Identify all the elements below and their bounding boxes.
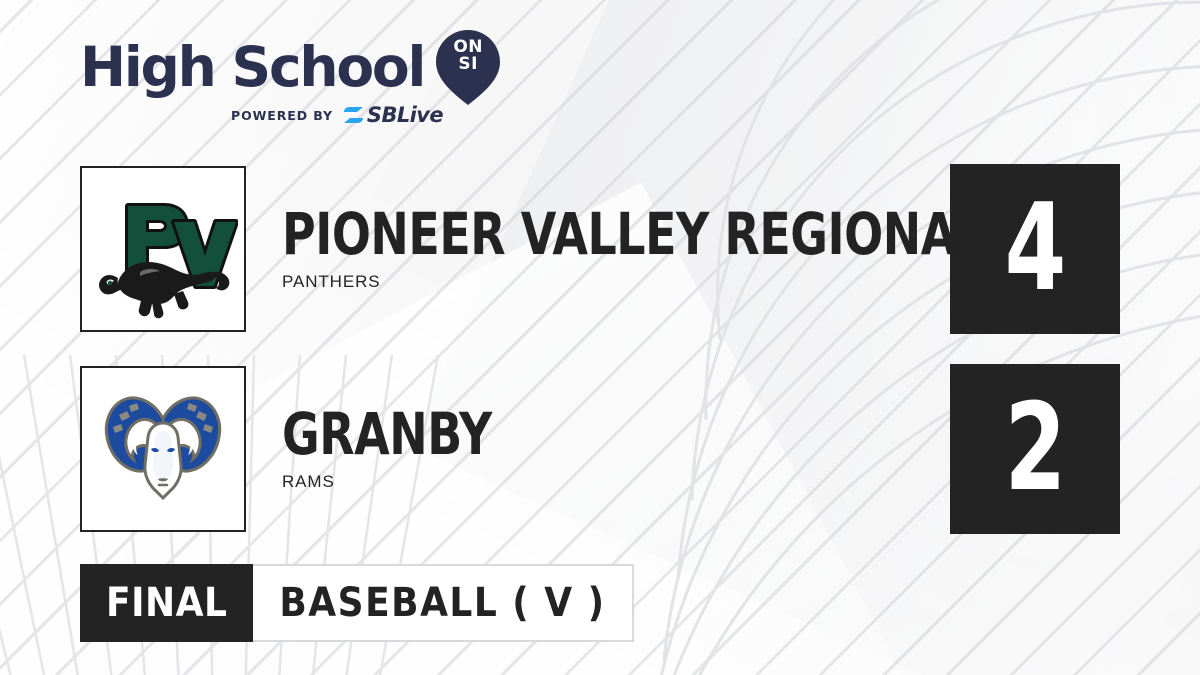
- sblive-ive: ive: [410, 103, 443, 127]
- onsi-line-si: SI: [436, 56, 500, 73]
- team-info: GRANBY RAMS: [282, 406, 950, 491]
- granby-ram-logo-icon: [93, 379, 233, 519]
- team-row-home: PIONEER VALLEY REGIONAL PANTHERS 4: [80, 164, 1120, 334]
- team-info: PIONEER VALLEY REGIONAL PANTHERS: [282, 206, 950, 291]
- team-logo-card: [80, 366, 246, 532]
- team-name: PIONEER VALLEY REGIONAL: [282, 206, 870, 262]
- team-mascot: PANTHERS: [282, 272, 950, 292]
- powered-by-label: POWERED BY: [231, 108, 333, 123]
- status-badge: FINAL: [80, 564, 253, 642]
- team-row-away: GRANBY RAMS 2: [80, 364, 1120, 534]
- sblive-wordmark: SBLive: [367, 105, 443, 126]
- team-name: GRANBY: [282, 406, 870, 462]
- team-logo-card: [80, 166, 246, 332]
- onsi-pin-label: ON SI: [436, 39, 500, 73]
- sblive-mark-icon: [342, 105, 364, 125]
- wordmark: High School ON SI: [80, 36, 550, 98]
- team-score-box: 2: [950, 364, 1120, 534]
- game-status-bar: FINAL BASEBALL ( V ): [80, 564, 634, 642]
- scoreboard-graphic: High School ON SI POWERED BY SBLive: [0, 0, 1200, 675]
- team-mascot: RAMS: [282, 472, 950, 492]
- pv-panther-logo-icon: [88, 174, 238, 324]
- onsi-pin-icon: ON SI: [436, 28, 500, 106]
- brand-header: High School ON SI POWERED BY SBLive: [80, 36, 550, 125]
- sport-label: BASEBALL ( V ): [253, 564, 633, 642]
- sblive-logo: SBLive: [342, 105, 443, 126]
- sblive-sbl: SBL: [367, 103, 410, 127]
- wordmark-text: High School: [80, 40, 424, 95]
- team-score: 2: [1005, 389, 1065, 509]
- powered-by-row: POWERED BY SBLive: [80, 105, 550, 125]
- team-score: 4: [1005, 189, 1065, 309]
